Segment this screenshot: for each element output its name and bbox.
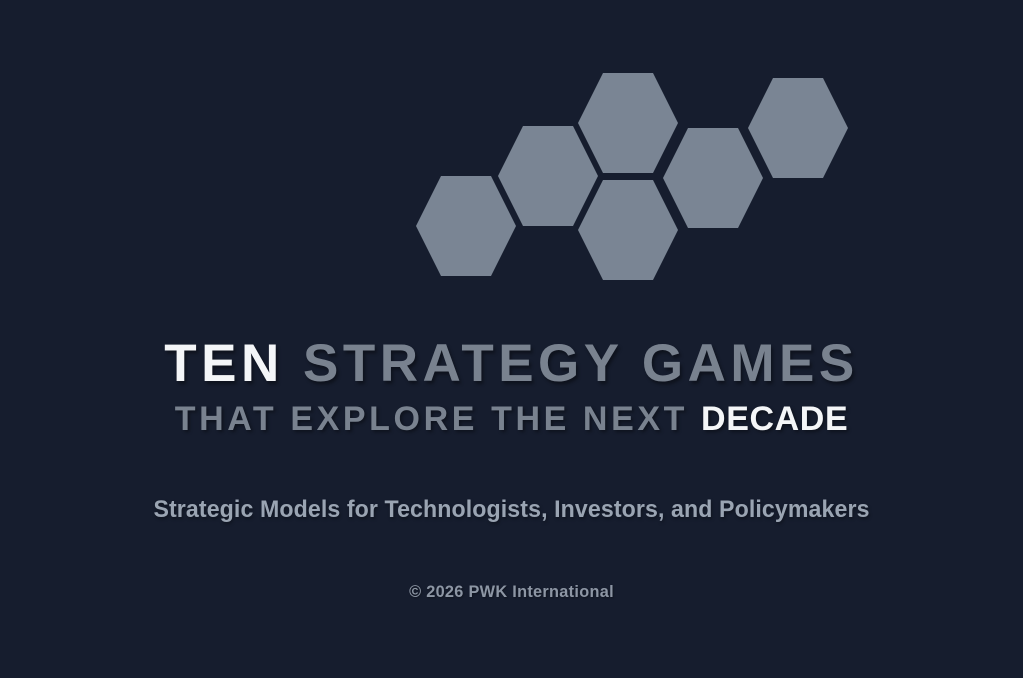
hexagon-icon — [663, 128, 763, 228]
hexagon-icon — [578, 73, 678, 173]
hexagon-icon — [498, 126, 598, 226]
copyright-notice: © 2026 PWK International — [20, 582, 1002, 602]
subtitle-lead-text: THAT EXPLORE THE NEXT — [175, 400, 701, 438]
subtitle-highlight-decade: DECADE — [701, 400, 848, 438]
title-highlight-ten: TEN — [164, 334, 284, 393]
title-rest-strategy-games: STRATEGY GAMES — [284, 334, 859, 393]
tagline: Strategic Models for Technologists, Inve… — [18, 496, 1005, 524]
title-line-primary: TEN STRATEGY GAMES — [0, 336, 1023, 391]
title-slide: TEN STRATEGY GAMES THAT EXPLORE THE NEXT… — [0, 0, 1023, 678]
hexagon-icon — [416, 176, 516, 276]
title-line-secondary: THAT EXPLORE THE NEXT DECADE — [0, 402, 1023, 437]
hexagon-icon — [748, 78, 848, 178]
hexagon-icon — [578, 180, 678, 280]
hexagon-cluster-logo — [0, 0, 1023, 310]
headline-block: TEN STRATEGY GAMES THAT EXPLORE THE NEXT… — [0, 336, 1023, 437]
